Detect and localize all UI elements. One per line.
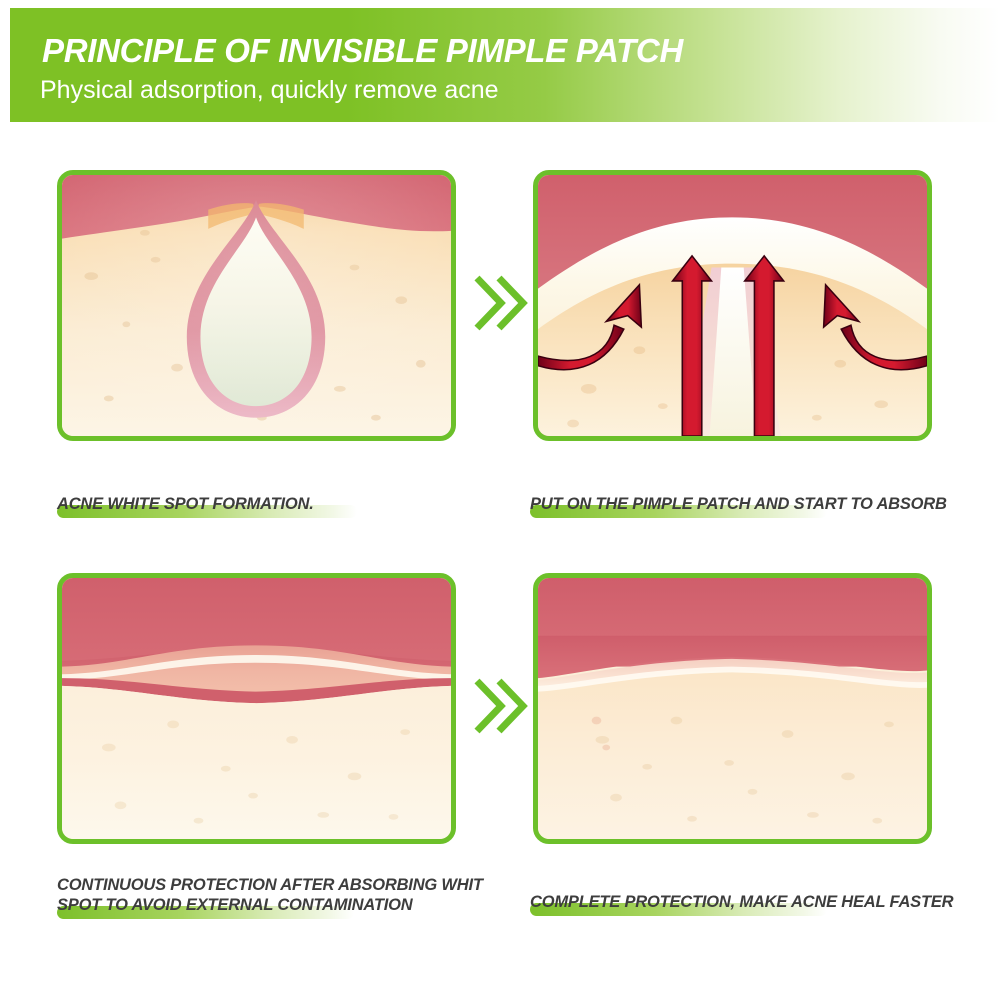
step-4-caption: COMPLETE PROTECTION, MAKE ACNE HEAL FAST… <box>530 892 953 912</box>
step-2-caption: PUT ON THE PIMPLE PATCH AND START TO ABS… <box>530 494 947 514</box>
step-3-caption: CONTINUOUS PROTECTION AFTER ABSORBING WH… <box>57 875 483 915</box>
step-1-illustration-panel <box>57 170 456 441</box>
patch-absorbing-diagram <box>538 175 927 436</box>
step-2-caption-text: PUT ON THE PIMPLE PATCH AND START TO ABS… <box>530 494 947 514</box>
acne-white-spot-diagram <box>62 175 451 436</box>
step-arrow-top <box>473 272 529 334</box>
double-chevron-right-icon <box>473 272 529 334</box>
skin-body <box>538 672 927 839</box>
step-3-caption-line-2: SPOT TO AVOID EXTERNAL CONTAMINATION <box>57 895 483 915</box>
step-4-illustration-panel <box>533 573 932 844</box>
step-4-caption-text: COMPLETE PROTECTION, MAKE ACNE HEAL FAST… <box>530 892 953 912</box>
healed-skin-diagram <box>538 578 927 839</box>
step-3-illustration-panel <box>57 573 456 844</box>
step-3-caption-line-1: CONTINUOUS PROTECTION AFTER ABSORBING WH… <box>57 875 483 895</box>
healing-skin-diagram <box>62 578 451 839</box>
step-arrow-bottom <box>473 675 529 737</box>
step-1-caption: ACNE WHITE SPOT FORMATION. <box>57 494 314 514</box>
header-banner: PRINCIPLE OF INVISIBLE PIMPLE PATCH Phys… <box>10 8 1000 122</box>
page-subtitle: Physical adsorption, quickly remove acne <box>40 78 499 103</box>
page-title: PRINCIPLE OF INVISIBLE PIMPLE PATCH <box>42 34 683 67</box>
step-1-caption-text: ACNE WHITE SPOT FORMATION. <box>57 494 314 514</box>
step-2-illustration-panel <box>533 170 932 441</box>
double-chevron-right-icon <box>473 675 529 737</box>
